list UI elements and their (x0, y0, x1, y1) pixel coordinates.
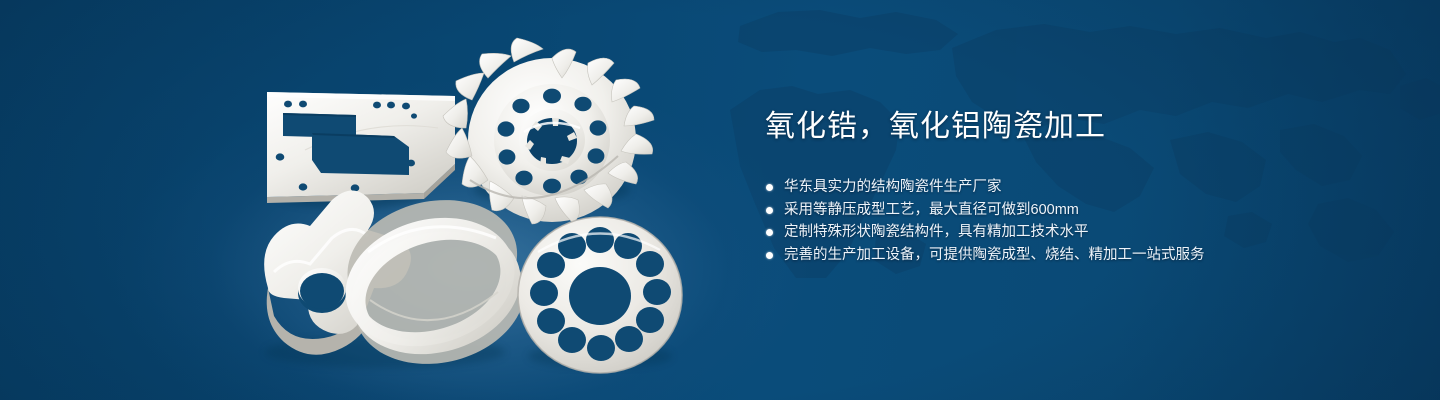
list-item-label: 华东具实力的结构陶瓷件生产厂家 (784, 179, 1002, 195)
bullet-dot-icon (766, 252, 773, 259)
ceramic-products-photo (0, 0, 760, 400)
bullet-dot-icon (766, 184, 773, 191)
ceramic-mounting-plate (267, 92, 455, 203)
bullet-dot-icon (766, 229, 773, 236)
hero-copy: 氧化锆，氧化铝陶瓷加工 华东具实力的结构陶瓷件生产厂家 采用等静压成型工艺，最大… (765, 108, 1325, 266)
list-item: 华东具实力的结构陶瓷件生产厂家 (765, 176, 1325, 199)
list-item: 定制特殊形状陶瓷结构件，具有精加工技术水平 (765, 221, 1325, 244)
ceramic-perforated-disc (518, 217, 682, 373)
list-item: 采用等静压成型工艺，最大直径可做到600mm (765, 199, 1325, 222)
list-item: 完善的生产加工设备，可提供陶瓷成型、烧结、精加工一站式服务 (765, 244, 1325, 267)
bullet-dot-icon (766, 207, 773, 214)
hero-banner: 氧化锆，氧化铝陶瓷加工 华东具实力的结构陶瓷件生产厂家 采用等静压成型工艺，最大… (0, 0, 1440, 400)
list-item-label: 定制特殊形状陶瓷结构件，具有精加工技术水平 (784, 224, 1089, 240)
page-title: 氧化锆，氧化铝陶瓷加工 (765, 108, 1325, 146)
list-item-label: 完善的生产加工设备，可提供陶瓷成型、烧结、精加工一站式服务 (784, 247, 1205, 263)
list-item-label: 采用等静压成型工艺，最大直径可做到600mm (784, 202, 1079, 218)
feature-list: 华东具实力的结构陶瓷件生产厂家 采用等静压成型工艺，最大直径可做到600mm 定… (765, 176, 1325, 266)
